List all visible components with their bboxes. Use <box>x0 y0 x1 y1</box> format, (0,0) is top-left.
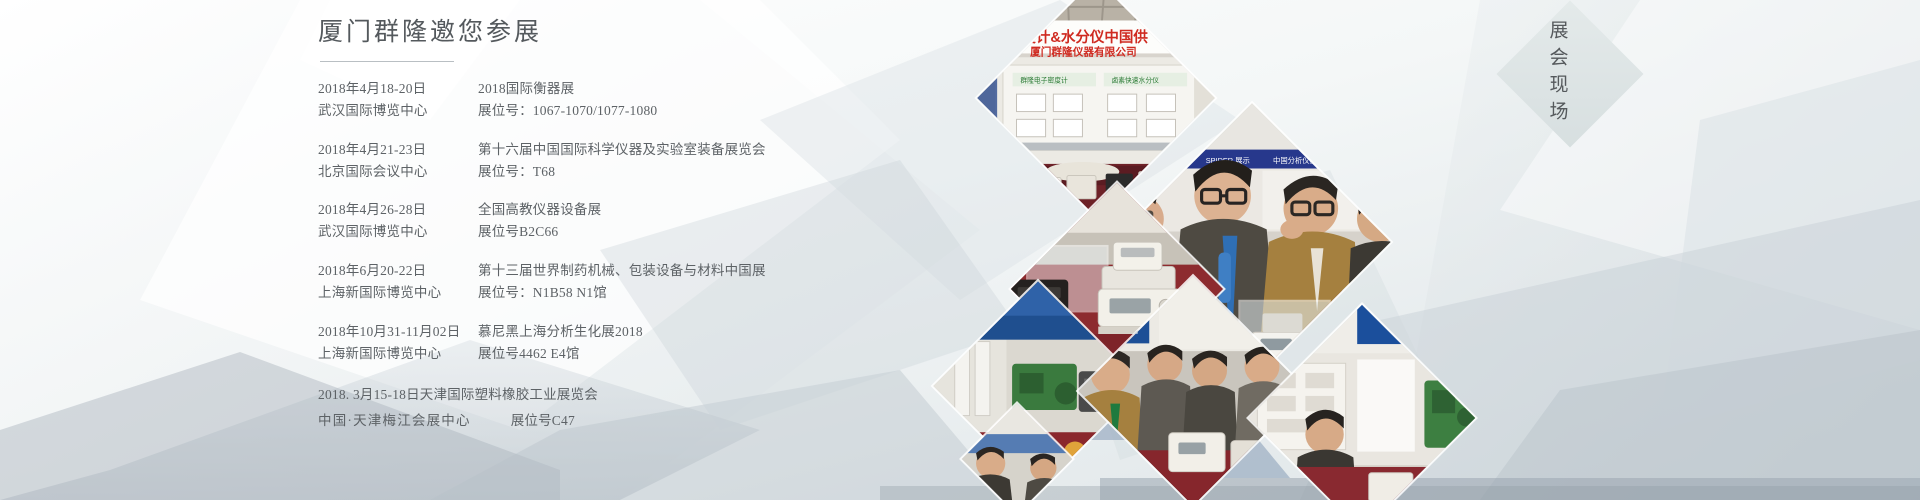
event-name: 全国高教仪器设备展 <box>454 199 601 221</box>
svg-text:SciGHT: SciGHT <box>1388 316 1444 333</box>
event-venue: 中国·天津梅江会展中心 <box>318 413 471 428</box>
event-entry: 2018年4月21-23日 第十六届中国国际科学仪器及实验室装备展览会 北京国际… <box>318 139 1078 183</box>
event-date: 2018. 3月15-18日天津国际塑料橡胶工业展览会 <box>318 387 598 402</box>
banner-stage: 厦门群隆邀您参展 2018年4月18-20日 2018国际衡器展 武汉国际博览中… <box>0 0 1920 500</box>
event-row-secondary: 上海新国际博览中心 展位号：N1B58 N1馆 <box>318 282 1078 304</box>
svg-text:中国分析仪器高新技术国际论坛: 中国分析仪器高新技术国际论坛 <box>1273 156 1376 165</box>
event-booth: 展位号B2C66 <box>454 221 558 243</box>
event-venue: 上海新国际博览中心 <box>318 282 454 304</box>
event-date: 2018年10月31-11月02日 <box>318 321 454 343</box>
event-booth: 展位号4462 E4馆 <box>454 343 580 365</box>
event-name: 第十六届中国国际科学仪器及实验室装备展览会 <box>454 139 766 161</box>
title-divider <box>320 61 454 62</box>
event-name: 2018国际衡器展 <box>454 78 574 100</box>
event-name: 慕尼黑上海分析生化展2018 <box>454 321 643 343</box>
event-booth: 展位号：T68 <box>454 161 555 183</box>
event-entry: 2018年4月26-28日 全国高教仪器设备展 武汉国际博览中心 展位号B2C6… <box>318 199 1078 243</box>
event-venue: 上海新国际博览中心 <box>318 343 454 365</box>
event-row-secondary: 武汉国际博览中心 展位号：1067-1070/1077-1080 <box>318 100 1078 122</box>
scene-label-text: 展会现场 <box>1546 20 1567 128</box>
event-row-primary: 2018年4月21-23日 第十六届中国国际科学仪器及实验室装备展览会 <box>318 139 1078 161</box>
photo-collage: 密度计&水分仪中国供 厦门群隆仪器有限公司 群隆电子密度计 卤素快速水分仪 <box>1020 0 1440 500</box>
event-row-primary: 2018年10月31-11月02日 慕尼黑上海分析生化展2018 <box>318 321 1078 343</box>
event-venue: 北京国际会议中心 <box>318 161 454 183</box>
event-row-primary: 2018年4月26-28日 全国高教仪器设备展 <box>318 199 1078 221</box>
event-row-secondary: 武汉国际博览中心 展位号B2C66 <box>318 221 1078 243</box>
event-booth: 展位号C47 <box>475 413 575 428</box>
event-date: 2018年6月20-22日 <box>318 260 454 282</box>
event-entry: 2018. 3月15-18日天津国际塑料橡胶工业展览会 中国·天津梅江会展中心 … <box>318 382 1078 434</box>
event-venue: 武汉国际博览中心 <box>318 221 454 243</box>
event-row-secondary: 上海新国际博览中心 展位号4462 E4馆 <box>318 343 1078 365</box>
scene-label: 展会现场 <box>1496 6 1616 142</box>
invitation-panel: 厦门群隆邀您参展 2018年4月18-20日 2018国际衡器展 武汉国际博览中… <box>318 18 1078 488</box>
event-row-secondary: 中国·天津梅江会展中心 展位号C47 <box>318 408 1078 434</box>
event-name: 第十三届世界制药机械、包装设备与材料中国展 <box>454 260 766 282</box>
svg-text:卤素快速水分仪: 卤素快速水分仪 <box>1112 75 1160 84</box>
event-date: 2018年4月26-28日 <box>318 199 454 221</box>
page-title: 厦门群隆邀您参展 <box>318 18 1078 54</box>
event-booth: 展位号：N1B58 N1馆 <box>454 282 607 304</box>
event-booth: 展位号：1067-1070/1077-1080 <box>454 100 657 122</box>
event-entry: 2018年10月31-11月02日 慕尼黑上海分析生化展2018 上海新国际博览… <box>318 321 1078 365</box>
event-row-secondary: 北京国际会议中心 展位号：T68 <box>318 161 1078 183</box>
event-entry: 2018年4月18-20日 2018国际衡器展 武汉国际博览中心 展位号：106… <box>318 78 1078 122</box>
event-date: 2018年4月21-23日 <box>318 139 454 161</box>
event-row-primary: 2018. 3月15-18日天津国际塑料橡胶工业展览会 <box>318 382 1078 408</box>
event-entry: 2018年6月20-22日 第十三届世界制药机械、包装设备与材料中国展 上海新国… <box>318 260 1078 304</box>
event-row-primary: 2018年6月20-22日 第十三届世界制药机械、包装设备与材料中国展 <box>318 260 1078 282</box>
event-date: 2018年4月18-20日 <box>318 78 454 100</box>
event-row-primary: 2018年4月18-20日 2018国际衡器展 <box>318 78 1078 100</box>
event-venue: 武汉国际博览中心 <box>318 100 454 122</box>
